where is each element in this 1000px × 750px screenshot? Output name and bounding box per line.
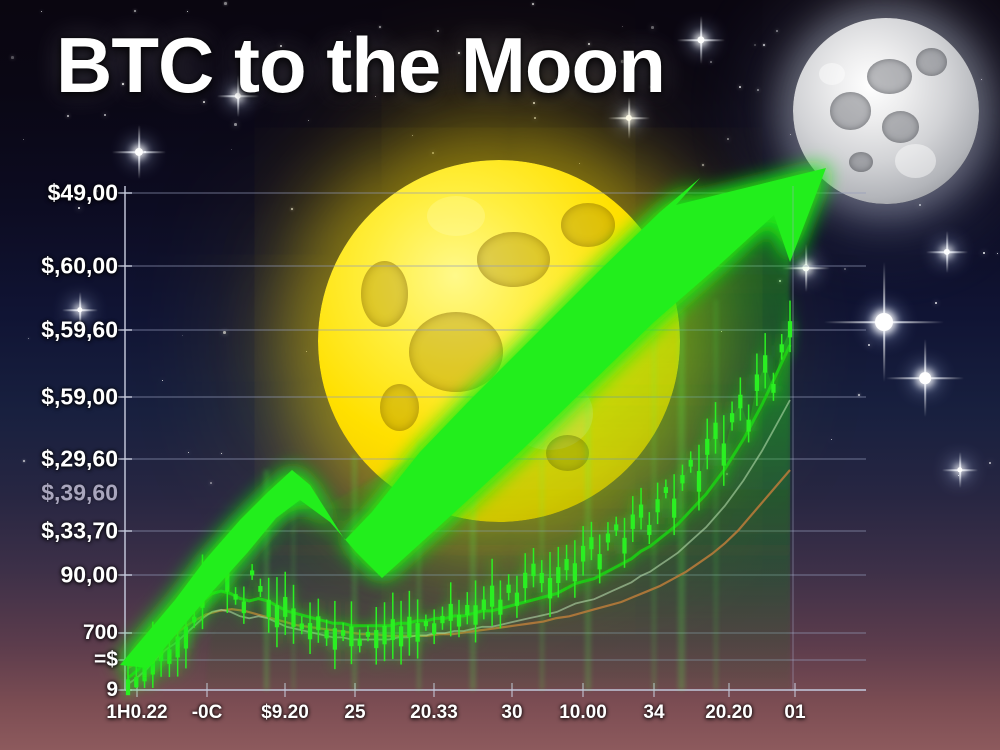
x-axis-tick-label: 20.20 [705, 702, 753, 724]
x-axis-tick-label: 34 [643, 702, 664, 724]
x-axis-tick-label: $9.20 [261, 702, 309, 724]
x-axis-tick-label: 30 [501, 702, 522, 724]
x-axis-labels: 1H0.22-0C$9.202520.333010.003420.2001 [0, 0, 1000, 750]
x-axis-tick-label: 1H0.22 [106, 702, 167, 724]
x-axis-tick-label: 01 [784, 702, 805, 724]
page-title: BTC to the Moon [56, 26, 665, 104]
x-axis-tick-label: 10.00 [559, 702, 607, 724]
x-axis-tick-label: 25 [344, 702, 365, 724]
btc-to-the-moon-poster: BTC to the Moon [0, 0, 1000, 750]
x-axis-tick-label: 20.33 [410, 702, 458, 724]
x-axis-tick-label: -0C [192, 702, 223, 724]
